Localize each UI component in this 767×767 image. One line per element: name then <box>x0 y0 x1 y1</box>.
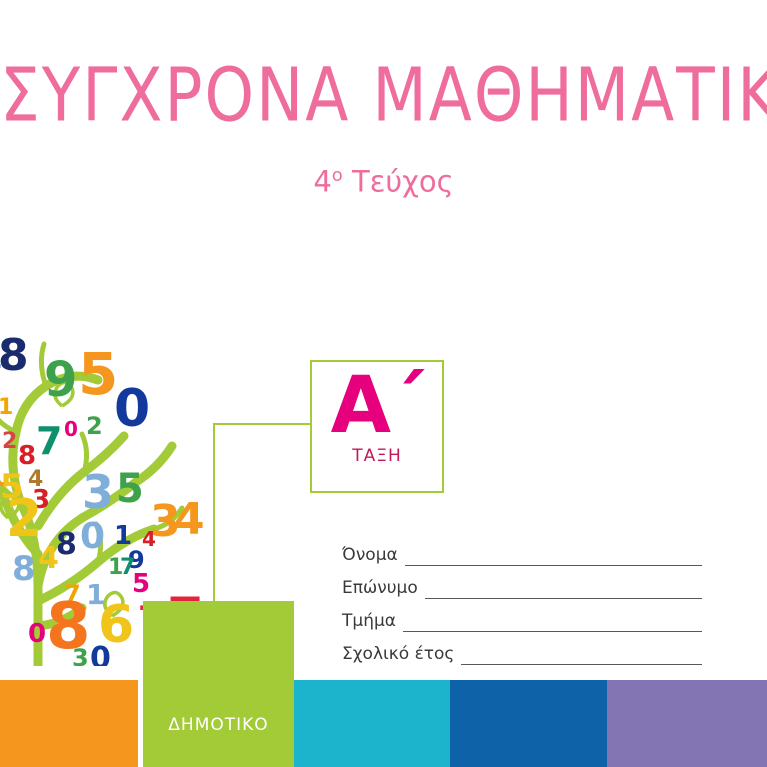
student-info-form: Όνομα Επώνυμο Τμήμα Σχολικό έτος <box>342 541 702 673</box>
field-line-name[interactable] <box>405 564 702 566</box>
volume-word: Τεύχος <box>352 165 454 199</box>
svg-text:7: 7 <box>36 419 62 463</box>
form-field-section[interactable]: Τμήμα <box>342 607 702 632</box>
book-cover: ΣΥΓΧΡΟΝΑ ΜΑΘΗΜΑΤΙΚΑ 4ο Τεύχος <box>0 0 767 767</box>
title-block: ΣΥΓΧΡΟΝΑ ΜΑΘΗΜΑΤΙΚΑ 4ο Τεύχος <box>0 58 767 197</box>
svg-text:8: 8 <box>0 330 29 381</box>
badge-connector-line <box>213 423 325 608</box>
field-label-surname: Επώνυμο <box>342 580 418 599</box>
bottom-bar-purple <box>607 680 767 767</box>
volume-ordinal-suffix: ο <box>332 165 343 186</box>
svg-text:0: 0 <box>28 619 46 649</box>
svg-text:2: 2 <box>2 429 17 454</box>
class-badge: Α΄ ΤΑΞΗ <box>310 360 444 493</box>
svg-text:5: 5 <box>132 569 150 599</box>
bottom-bar-orange <box>0 680 138 767</box>
svg-text:2: 2 <box>6 489 42 549</box>
page-title: ΣΥΓΧΡΟΝΑ ΜΑΘΗΜΑΤΙΚΑ <box>0 58 767 132</box>
field-label-section: Τμήμα <box>342 613 396 632</box>
svg-text:0: 0 <box>114 379 150 439</box>
form-field-school-year[interactable]: Σχολικό έτος <box>342 640 702 665</box>
svg-text:0: 0 <box>90 641 111 666</box>
volume-number: 4 <box>313 165 331 199</box>
svg-text:3: 3 <box>72 644 89 666</box>
field-line-surname[interactable] <box>425 597 702 599</box>
svg-text:2: 2 <box>86 412 103 440</box>
field-line-school-year[interactable] <box>461 663 702 665</box>
form-field-name[interactable]: Όνομα <box>342 541 702 566</box>
svg-text:8: 8 <box>12 549 36 589</box>
bottom-bar-cyan <box>294 680 450 767</box>
svg-text:0: 0 <box>80 516 105 557</box>
svg-text:5: 5 <box>116 466 144 512</box>
education-level-block: ΔΗΜΟΤΙΚΟ <box>143 601 294 767</box>
field-line-section[interactable] <box>403 630 702 632</box>
volume-subtitle: 4ο Τεύχος <box>0 167 767 197</box>
svg-text:8: 8 <box>56 527 77 562</box>
field-label-name: Όνομα <box>342 547 398 566</box>
class-letter: Α΄ <box>312 368 442 444</box>
svg-text:0: 0 <box>64 417 78 441</box>
svg-text:1: 1 <box>0 395 13 420</box>
form-field-surname[interactable]: Επώνυμο <box>342 574 702 599</box>
svg-text:3: 3 <box>82 465 114 519</box>
svg-text:5: 5 <box>78 340 118 408</box>
svg-text:4: 4 <box>174 494 205 545</box>
field-label-school-year: Σχολικό έτος <box>342 646 454 665</box>
svg-text:4: 4 <box>38 541 59 576</box>
education-level-label: ΔΗΜΟΤΙΚΟ <box>143 717 294 734</box>
bottom-bar-blue <box>450 680 607 767</box>
svg-text:9: 9 <box>44 352 77 408</box>
